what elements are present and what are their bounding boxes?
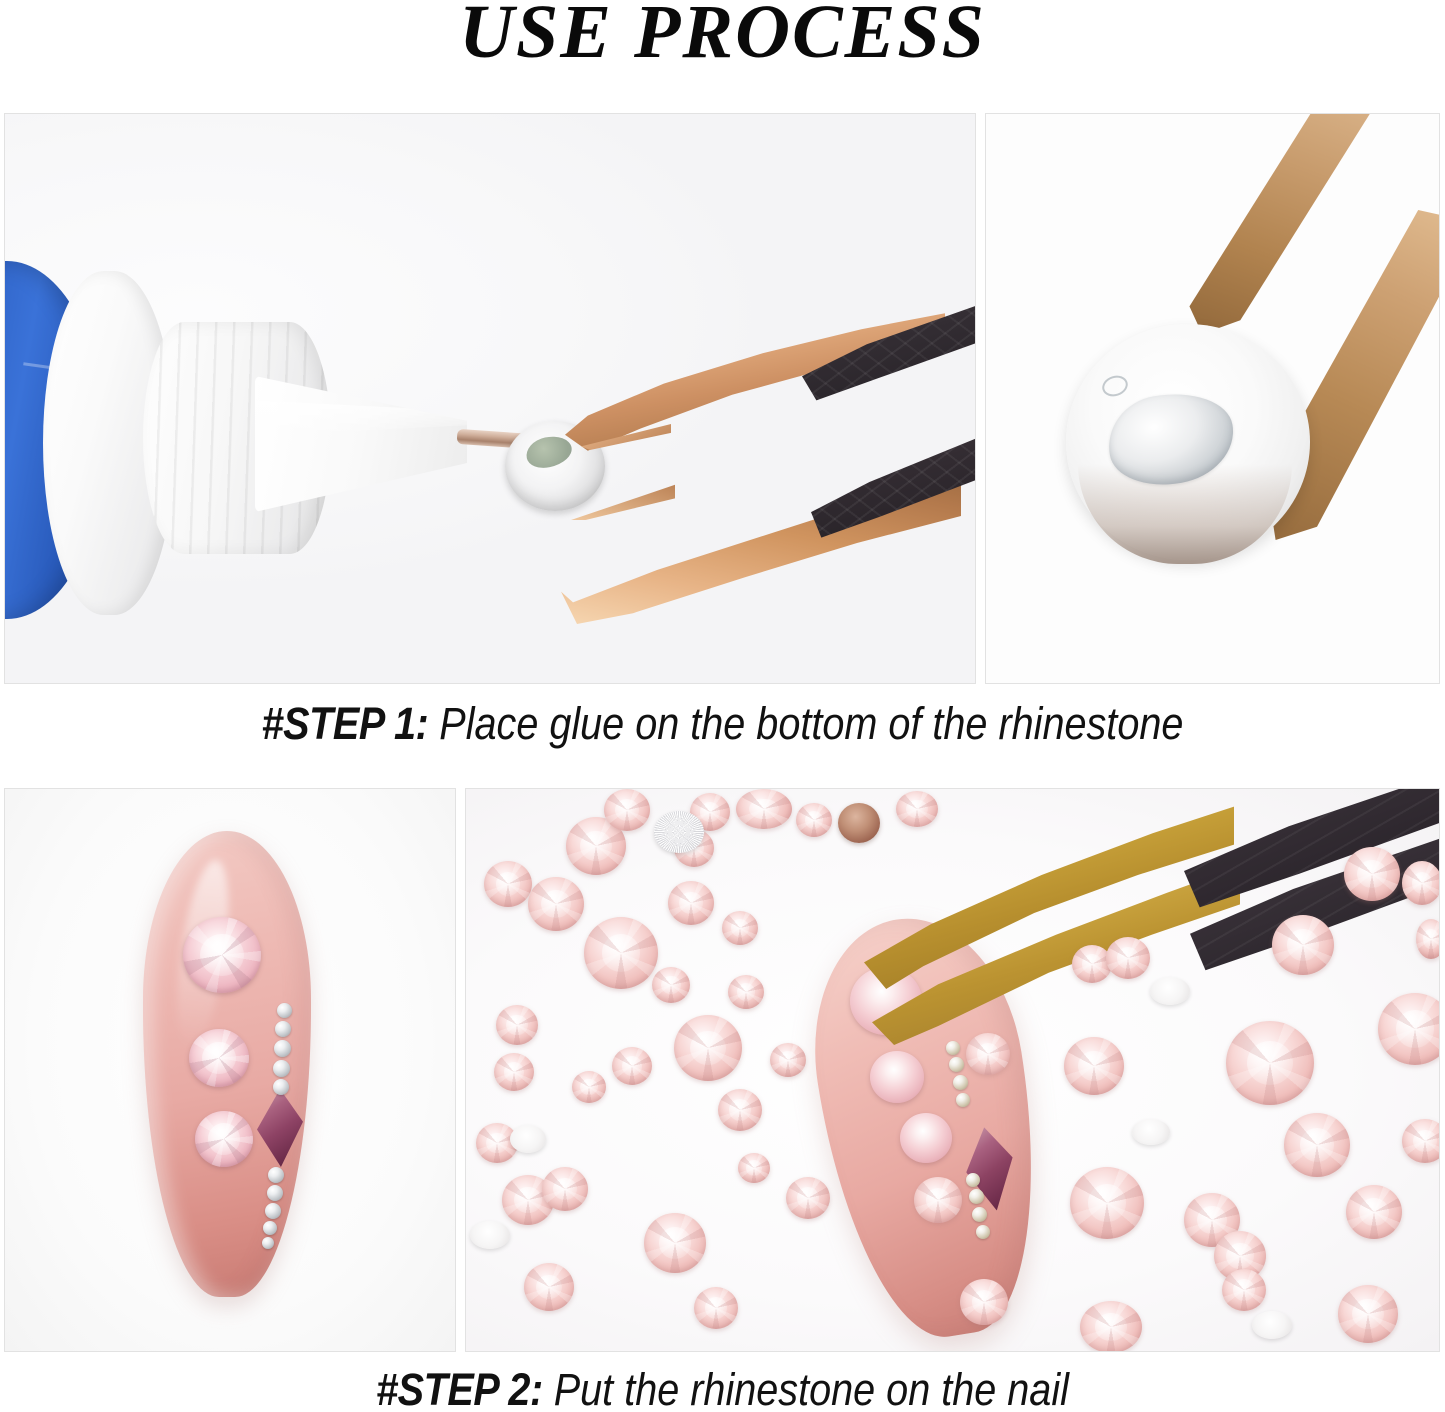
panel-bottom-right (465, 788, 1440, 1352)
loose-rhinestone (728, 975, 764, 1009)
loose-rhinestone (668, 881, 714, 925)
silver-bead-icon (273, 1079, 289, 1095)
gold-bead-icon (966, 1173, 980, 1187)
loose-rhinestone (604, 789, 650, 831)
loose-rhinestone (1222, 1269, 1266, 1311)
nail-rhinestone-medium-icon (189, 1029, 249, 1087)
silver-bead-icon (262, 1237, 274, 1249)
loose-rhinestone (770, 1043, 806, 1077)
nail-rhinestone-icon (870, 1051, 924, 1103)
loose-rhinestone (1272, 915, 1334, 975)
loose-rhinestone (1284, 1113, 1350, 1177)
panel-top-right (985, 113, 1440, 684)
loose-rhinestone (572, 1071, 606, 1103)
step-2-text: Put the rhinestone on the nail (543, 1364, 1069, 1412)
loose-rhinestone (722, 911, 758, 945)
gold-bead-icon (969, 1189, 984, 1204)
silver-bead-icon (268, 1167, 284, 1183)
loose-rhinestone (1338, 1285, 1398, 1343)
glitter-disc-icon (654, 811, 704, 853)
loose-rhinestone (674, 1015, 742, 1081)
loose-rhinestone (1080, 1301, 1142, 1352)
loose-rhinestone (786, 1177, 830, 1219)
loose-rhinestone (960, 1279, 1008, 1325)
loose-rhinestone (528, 877, 584, 931)
silver-bead-icon (263, 1221, 277, 1235)
loose-rhinestone (1402, 861, 1440, 905)
loose-rhinestone-dark (838, 803, 880, 843)
loose-rhinestone-flatback (510, 1125, 546, 1153)
loose-rhinestone (1402, 1119, 1440, 1163)
page-title: USE PROCESS (0, 0, 1445, 70)
loose-rhinestone (1226, 1021, 1314, 1105)
gold-bead-icon (953, 1075, 968, 1090)
silver-bead-icon (265, 1203, 281, 1219)
gold-bead-icon (946, 1041, 960, 1055)
loose-rhinestone (496, 1005, 538, 1045)
loose-rhinestone (1106, 937, 1150, 979)
silver-bead-icon (273, 1060, 290, 1077)
step-1-caption: #STEP 1: Place glue on the bottom of the… (87, 698, 1359, 750)
loose-rhinestone (1064, 1037, 1124, 1095)
step-2-caption: #STEP 2: Put the rhinestone on the nail (87, 1364, 1359, 1412)
loose-rhinestone (1346, 1185, 1402, 1239)
gold-bead-icon (976, 1225, 990, 1239)
loose-rhinestone (484, 861, 532, 907)
loose-rhinestone (718, 1089, 762, 1131)
loose-rhinestone (584, 917, 658, 989)
silver-bead-icon (274, 1040, 291, 1057)
loose-rhinestone (542, 1167, 588, 1211)
loose-rhinestone (914, 1177, 962, 1223)
step-1-label: #STEP 1: (262, 698, 429, 749)
loose-rhinestone-flatback (470, 1221, 510, 1249)
loose-rhinestone (652, 967, 690, 1003)
panel-top-left (4, 113, 976, 684)
loose-rhinestone (1344, 847, 1400, 901)
loose-rhinestone (796, 803, 832, 837)
gold-bead-icon (956, 1093, 970, 1107)
loose-rhinestone-flatback (1132, 1119, 1170, 1145)
loose-rhinestone (612, 1047, 652, 1085)
silver-bead-icon (275, 1021, 291, 1037)
nail-rhinestone-small-icon (195, 1111, 253, 1167)
loose-rhinestone (738, 1153, 770, 1183)
gold-bead-icon (949, 1057, 964, 1072)
loose-rhinestone (736, 789, 792, 829)
loose-rhinestone-flatback (1252, 1311, 1292, 1339)
gold-bead-icon (972, 1207, 987, 1222)
loose-rhinestone (1070, 1167, 1144, 1239)
nail-rhinestone-icon (900, 1113, 952, 1163)
nail-rhinestone-large-icon (183, 917, 261, 993)
silver-bead-icon (277, 1003, 292, 1018)
step-1-text: Place glue on the bottom of the rhinesto… (428, 698, 1183, 749)
panel-bottom-left (4, 788, 456, 1352)
loose-rhinestone (494, 1053, 534, 1091)
step-2-label: #STEP 2: (376, 1364, 543, 1412)
silver-bead-icon (267, 1185, 283, 1201)
loose-rhinestone (1416, 919, 1440, 959)
loose-rhinestone (524, 1263, 574, 1311)
loose-rhinestone (966, 1033, 1010, 1075)
loose-rhinestone (644, 1213, 706, 1273)
loose-rhinestone-flatback (1150, 977, 1190, 1005)
use-process-infographic: USE PROCESS #STEP 1: Place glue on the b… (0, 0, 1445, 1412)
loose-rhinestone (896, 791, 938, 827)
loose-rhinestone (694, 1287, 738, 1329)
